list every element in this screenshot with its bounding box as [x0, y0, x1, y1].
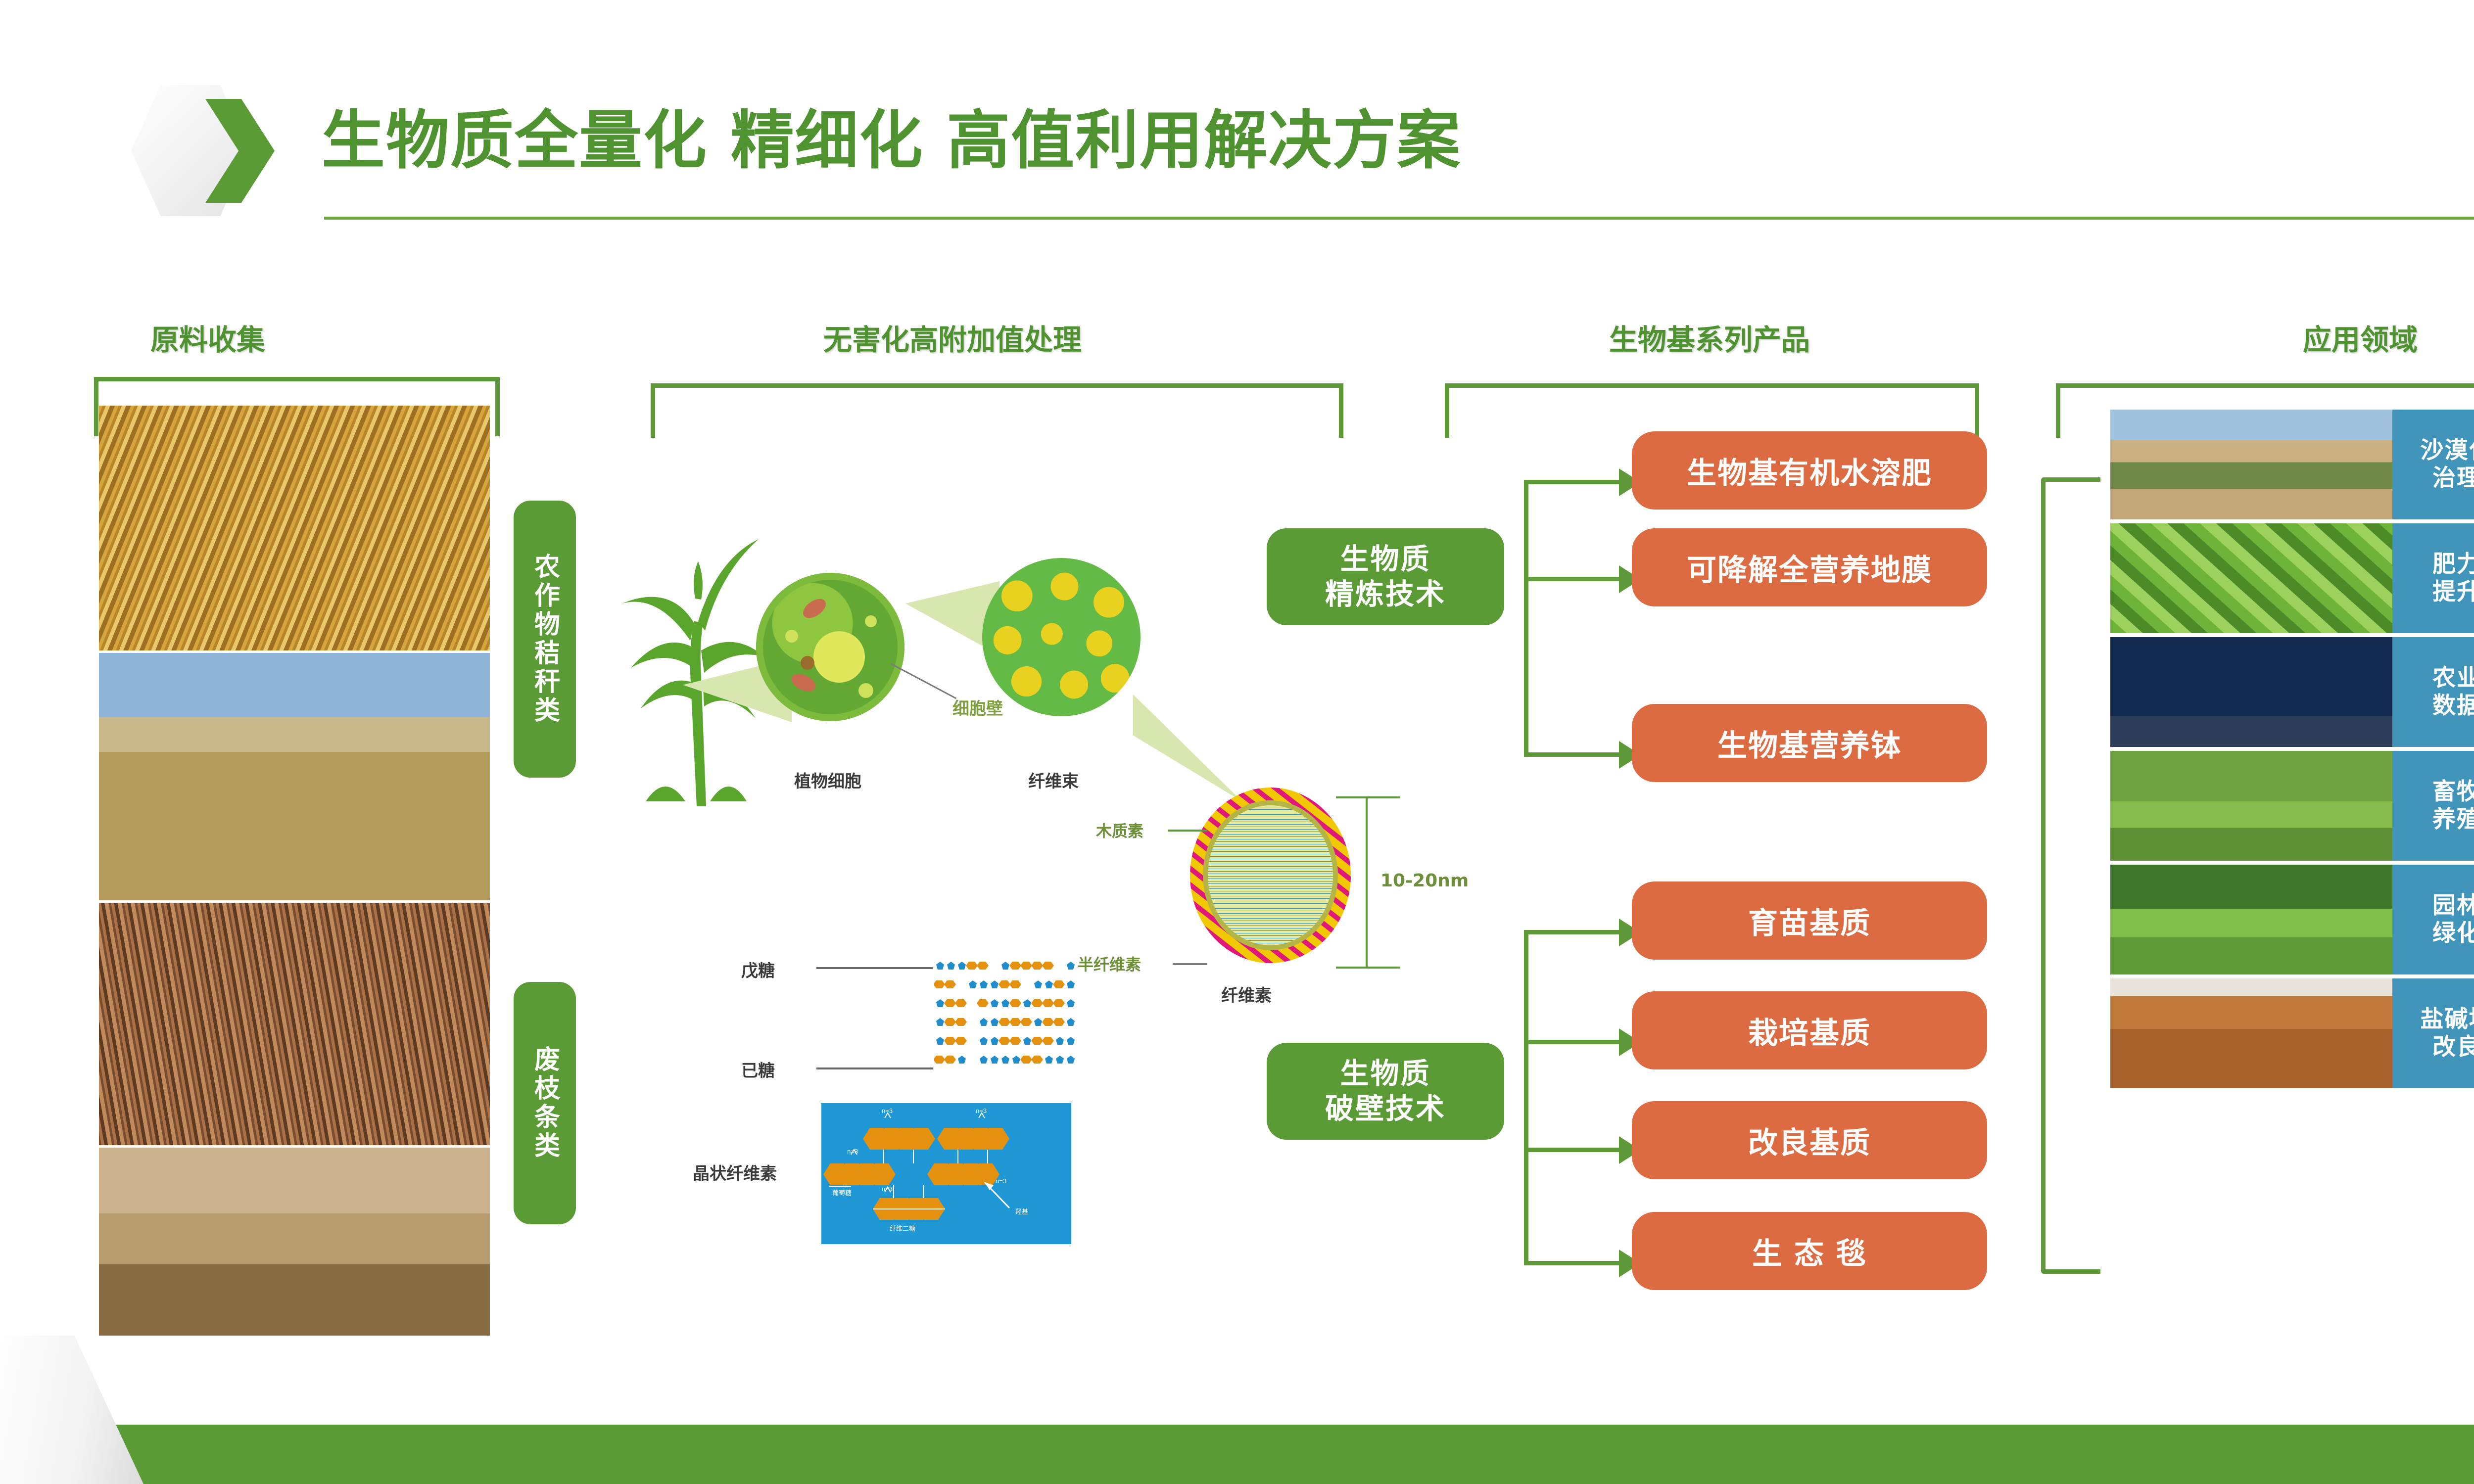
grazing-sheep-photo: [2110, 751, 2392, 861]
application-line-2: 治理: [2432, 464, 2474, 492]
product-pill-biodegradable-mulch-film[interactable]: 可降解全营养地膜: [1632, 528, 1987, 606]
technology-pill-wallbreaking[interactable]: 生物质 破壁技术: [1267, 1043, 1504, 1140]
garden-lawn-photo: [2110, 865, 2392, 974]
product-pill-nutrition-pot[interactable]: 生物基营养钵: [1632, 704, 1987, 782]
application-tag-livestock: 畜牧 养殖: [2392, 751, 2474, 861]
bracket-products: [1445, 383, 1979, 438]
lignin-leader-line: [1168, 830, 1207, 832]
fiber-bundle-diagram: [982, 558, 1141, 716]
dimension-tick-bottom: [1336, 967, 1400, 969]
application-line-1: 畜牧: [2432, 778, 2474, 806]
connector-spine-2: [1524, 930, 1528, 1265]
svg-text:n=3: n=3: [976, 1107, 987, 1114]
connector-spine-1: [1524, 480, 1528, 757]
label-hexose: 已糖: [741, 1057, 775, 1081]
sugar-chain-diagram: [934, 955, 1078, 1078]
cabbage-field-photo: [2110, 523, 2392, 633]
bracket-process: [651, 383, 1343, 438]
hexose-leader-line: [816, 1067, 933, 1069]
application-tag-fertility: 肥力 提升: [2392, 523, 2474, 633]
magnify-cone-3: [1133, 688, 1242, 801]
corn-straw-photo: [99, 406, 490, 650]
data-screen-photo: [2110, 637, 2392, 747]
application-row-fertility[interactable]: 肥力 提升: [2110, 523, 2474, 633]
product-pill-seedling-substrate[interactable]: 育苗基质: [1632, 881, 1987, 960]
connector-branch-1c: [1524, 752, 1620, 757]
saline-soil-photo: [2110, 978, 2392, 1088]
svg-text:n=3: n=3: [882, 1185, 893, 1193]
application-line-2: 绿化: [2432, 920, 2474, 947]
application-line-1: 盐碱地: [2421, 1006, 2474, 1033]
application-tag-landscaping: 园林 绿化: [2392, 865, 2474, 974]
technology-line-1: 生物质: [1340, 542, 1430, 577]
footer-bar: [0, 1425, 2474, 1484]
title-underline: [324, 217, 2474, 220]
product-pill-cultivation-substrate[interactable]: 栽培基质: [1632, 991, 1987, 1069]
label-pentose: 戊糖: [741, 957, 775, 981]
section-header-products: 生物基系列产品: [1425, 317, 1994, 358]
plant-illustration-icon: [616, 524, 779, 806]
crystalline-cellulose-glucose-icon: n=3n=3n=3 n=3n=3 葡萄糖纤维二糖羟基: [821, 1103, 1071, 1244]
material-tab-crop-straw[interactable]: 农作物秸秆类: [514, 501, 576, 778]
connector-branch-2c: [1524, 1148, 1620, 1152]
technology-line-2: 精炼技术: [1325, 577, 1446, 612]
section-header-raw: 原料收集: [59, 317, 356, 358]
application-line-1: 肥力: [2432, 551, 2474, 578]
connector-branch-2b: [1524, 1040, 1620, 1044]
label-hemicellulose: 半纤维素: [1078, 952, 1141, 975]
svg-text:n=3: n=3: [882, 1107, 893, 1114]
product-pill-improvement-substrate[interactable]: 改良基质: [1632, 1101, 1987, 1179]
plant-cell-organelles-icon: [756, 573, 904, 721]
logo-hexagon: [131, 85, 280, 216]
application-line-1: 农业: [2432, 664, 2474, 692]
technology-pill-refining[interactable]: 生物质 精炼技术: [1267, 528, 1504, 625]
application-row-livestock[interactable]: 畜牧 养殖: [2110, 751, 2474, 861]
label-crystalline-cellulose: 晶状纤维素: [693, 1160, 777, 1184]
application-tag-saline-land: 盐碱地 改良: [2392, 978, 2474, 1088]
dry-branches-photo: [99, 903, 490, 1145]
label-dimension: 10-20nm: [1380, 871, 1469, 891]
application-row-desert[interactable]: 沙漠化 治理: [2110, 410, 2474, 519]
svg-text:羟基: 羟基: [1015, 1208, 1028, 1215]
application-line-1: 园林: [2432, 892, 2474, 920]
application-tag-desert: 沙漠化 治理: [2392, 410, 2474, 519]
section-header-applications: 应用领域: [2138, 317, 2474, 358]
cellulose-fibril-diagram: [1190, 788, 1351, 963]
application-line-2: 提升: [2432, 578, 2474, 606]
pentose-leader-line: [816, 967, 933, 969]
page-title: 生物质全量化 精细化 高值利用解决方案: [322, 89, 1461, 181]
product-pill-water-soluble-fertilizer[interactable]: 生物基有机水溶肥: [1632, 431, 1987, 510]
connector-branch-1b: [1524, 577, 1620, 581]
vineyard-prunings-photo: [99, 1148, 490, 1336]
application-row-landscaping[interactable]: 园林 绿化: [2110, 865, 2474, 974]
svg-text:n=3: n=3: [996, 1177, 1006, 1185]
applications-left-bracket: [2041, 477, 2100, 1274]
svg-text:纤维二糖: 纤维二糖: [890, 1225, 915, 1232]
connector-branch-2a: [1524, 930, 1620, 934]
application-row-saline-land[interactable]: 盐碱地 改良: [2110, 978, 2474, 1088]
footer-wedge-shape: [0, 1336, 143, 1484]
label-cell-wall: 细胞壁: [952, 695, 1003, 719]
label-cellulose: 纤维素: [1221, 982, 1272, 1006]
svg-text:n=3: n=3: [847, 1148, 858, 1155]
baled-straw-photo: [99, 653, 490, 900]
svg-text:葡萄糖: 葡萄糖: [832, 1189, 852, 1197]
hemicellulose-leader-line: [1173, 963, 1207, 965]
application-line-2: 改良: [2432, 1033, 2474, 1061]
application-line-1: 沙漠化: [2421, 437, 2474, 464]
dimension-tick-top: [1336, 796, 1400, 798]
connector-branch-2d: [1524, 1261, 1620, 1265]
application-line-2: 养殖: [2432, 806, 2474, 834]
application-line-2: 数据: [2432, 692, 2474, 720]
application-row-agri-data[interactable]: 农业 数据: [2110, 637, 2474, 747]
technology-line-2: 破壁技术: [1325, 1091, 1446, 1126]
technology-line-1: 生物质: [1340, 1056, 1430, 1091]
material-tab-waste-branches[interactable]: 废枝条类: [514, 982, 576, 1224]
application-tag-agri-data: 农业 数据: [2392, 637, 2474, 747]
label-plant-cell: 植物细胞: [794, 768, 861, 792]
label-lignin: 木质素: [1096, 819, 1143, 841]
label-fiber-bundle: 纤维束: [1028, 768, 1079, 792]
section-header-process: 无害化高附加值处理: [594, 317, 1311, 358]
desert-photo: [2110, 410, 2392, 519]
connector-branch-1a: [1524, 480, 1620, 484]
dimension-bar: [1366, 796, 1368, 969]
product-pill-ecological-blanket[interactable]: 生 态 毯: [1632, 1212, 1987, 1290]
